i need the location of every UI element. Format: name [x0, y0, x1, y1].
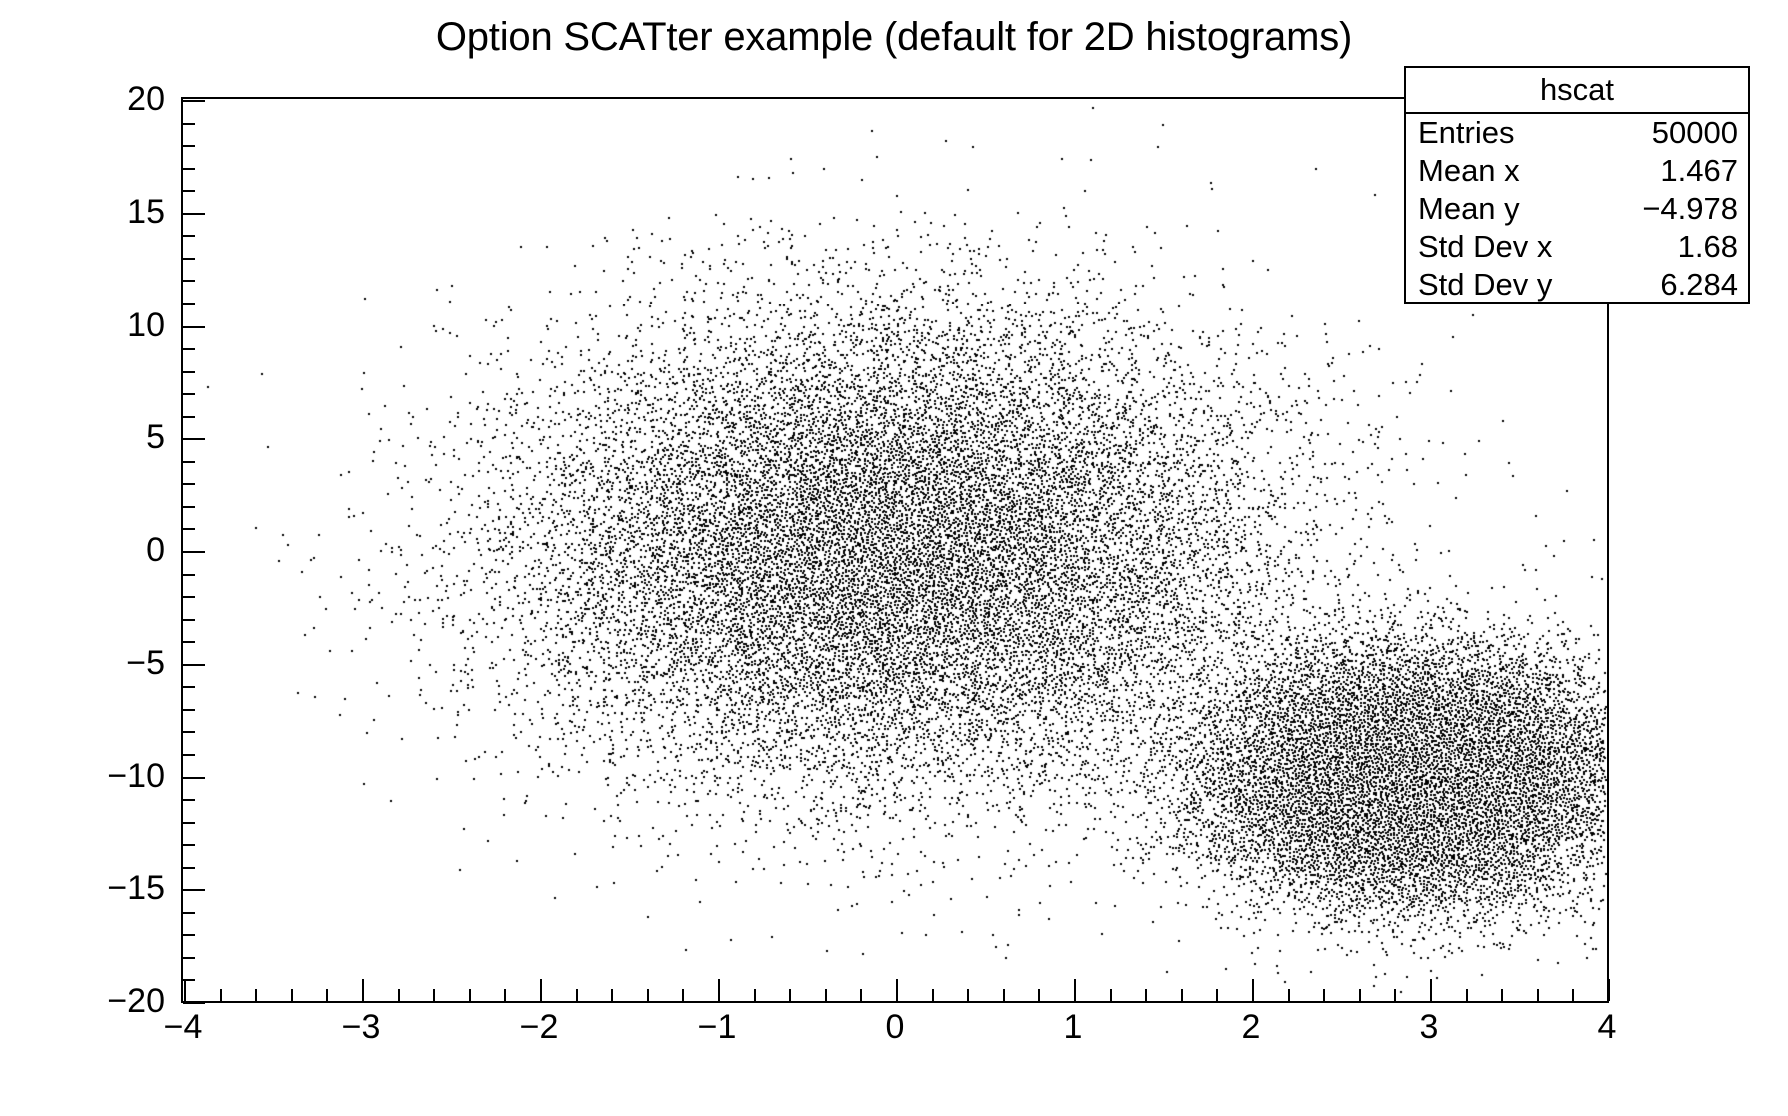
x-minor-tick — [576, 989, 578, 1001]
x-axis-tick-label: 4 — [1547, 1008, 1667, 1046]
y-minor-tick — [183, 348, 195, 350]
y-minor-tick — [183, 844, 195, 846]
y-minor-tick — [183, 235, 195, 237]
y-axis-tick-label: −15 — [25, 869, 165, 907]
x-major-tick — [1252, 979, 1254, 1001]
x-minor-tick — [825, 989, 827, 1001]
statistics-row: Mean x1.467 — [1406, 152, 1748, 190]
x-major-tick — [362, 979, 364, 1001]
y-minor-tick — [183, 709, 195, 711]
x-minor-tick — [1145, 989, 1147, 1001]
y-minor-tick — [183, 506, 195, 508]
x-major-tick — [184, 979, 186, 1001]
statistics-row: Mean y−4.978 — [1406, 190, 1748, 228]
y-minor-tick — [183, 619, 195, 621]
y-major-tick — [183, 551, 205, 553]
y-axis-tick-label: 5 — [25, 418, 165, 456]
statistics-label: Mean x — [1418, 152, 1520, 190]
y-axis-tick-label: 10 — [25, 306, 165, 344]
y-minor-tick — [183, 979, 195, 981]
y-axis-tick-label: −5 — [25, 644, 165, 682]
x-major-tick — [1608, 979, 1610, 1001]
statistics-label: Entries — [1418, 114, 1514, 152]
y-minor-tick — [183, 303, 195, 305]
x-minor-tick — [967, 989, 969, 1001]
x-axis-tick-label: −2 — [479, 1008, 599, 1046]
y-minor-tick — [183, 393, 195, 395]
x-minor-tick — [682, 989, 684, 1001]
y-minor-tick — [183, 867, 195, 869]
y-minor-tick — [183, 416, 195, 418]
y-minor-tick — [183, 574, 195, 576]
y-minor-tick — [183, 168, 195, 170]
y-minor-tick — [183, 912, 195, 914]
y-minor-tick — [183, 258, 195, 260]
x-axis-tick-label: −3 — [301, 1008, 421, 1046]
x-minor-tick — [1181, 989, 1183, 1001]
y-minor-tick — [183, 799, 195, 801]
x-minor-tick — [326, 989, 328, 1001]
root-canvas: Option SCATter example (default for 2D h… — [0, 0, 1788, 1116]
x-major-tick — [1074, 979, 1076, 1001]
y-minor-tick — [183, 957, 195, 959]
y-minor-tick — [183, 754, 195, 756]
y-minor-tick — [183, 145, 195, 147]
y-major-tick — [183, 1002, 205, 1004]
x-minor-tick — [255, 989, 257, 1001]
statistics-value: 6.284 — [1660, 266, 1738, 304]
y-minor-tick — [183, 371, 195, 373]
x-minor-tick — [504, 989, 506, 1001]
x-minor-tick — [1003, 989, 1005, 1001]
y-major-tick — [183, 438, 205, 440]
x-minor-tick — [1038, 989, 1040, 1001]
x-minor-tick — [433, 989, 435, 1001]
y-minor-tick — [183, 483, 195, 485]
statistics-label: Mean y — [1418, 190, 1520, 228]
statistics-rows: Entries50000Mean x1.467Mean y−4.978Std D… — [1406, 114, 1748, 304]
y-minor-tick — [183, 641, 195, 643]
x-minor-tick — [932, 989, 934, 1001]
x-minor-tick — [469, 989, 471, 1001]
x-axis-tick-label: 2 — [1191, 1008, 1311, 1046]
x-minor-tick — [1394, 989, 1396, 1001]
y-axis-tick-label: −20 — [25, 982, 165, 1020]
x-major-tick — [718, 979, 720, 1001]
statistics-box[interactable]: hscat Entries50000Mean x1.467Mean y−4.97… — [1404, 66, 1750, 304]
x-minor-tick — [1466, 989, 1468, 1001]
y-minor-tick — [183, 686, 195, 688]
statistics-value: 1.467 — [1660, 152, 1738, 190]
y-axis-tick-label: 15 — [25, 193, 165, 231]
x-major-tick — [896, 979, 898, 1001]
x-axis-tick-label: 0 — [835, 1008, 955, 1046]
x-minor-tick — [754, 989, 756, 1001]
y-minor-tick — [183, 731, 195, 733]
x-minor-tick — [1537, 989, 1539, 1001]
x-minor-tick — [220, 989, 222, 1001]
statistics-title: hscat — [1406, 68, 1748, 114]
chart-title: Option SCATter example (default for 2D h… — [0, 14, 1788, 60]
y-minor-tick — [183, 822, 195, 824]
x-minor-tick — [1501, 989, 1503, 1001]
statistics-value: 1.68 — [1678, 228, 1738, 266]
x-major-tick — [540, 979, 542, 1001]
y-major-tick — [183, 889, 205, 891]
statistics-label: Std Dev x — [1418, 228, 1552, 266]
statistics-value: −4.978 — [1642, 190, 1738, 228]
statistics-label: Std Dev y — [1418, 266, 1552, 304]
x-minor-tick — [1288, 989, 1290, 1001]
y-major-tick — [183, 326, 205, 328]
y-major-tick — [183, 100, 205, 102]
x-minor-tick — [611, 989, 613, 1001]
y-minor-tick — [183, 123, 195, 125]
y-axis-tick-label: −10 — [25, 757, 165, 795]
y-major-tick — [183, 213, 205, 215]
y-minor-tick — [183, 934, 195, 936]
x-minor-tick — [1359, 989, 1361, 1001]
x-axis-tick-label: 3 — [1369, 1008, 1489, 1046]
y-minor-tick — [183, 528, 195, 530]
x-minor-tick — [1110, 989, 1112, 1001]
y-axis-tick-label: 0 — [25, 531, 165, 569]
plot-frame — [181, 97, 1609, 1003]
x-minor-tick — [1323, 989, 1325, 1001]
x-axis-tick-label: 1 — [1013, 1008, 1133, 1046]
x-axis-tick-label: −1 — [657, 1008, 777, 1046]
x-minor-tick — [1572, 989, 1574, 1001]
y-major-tick — [183, 664, 205, 666]
statistics-row: Entries50000 — [1406, 114, 1748, 152]
x-minor-tick — [1216, 989, 1218, 1001]
y-axis-tick-label: 20 — [25, 80, 165, 118]
x-minor-tick — [398, 989, 400, 1001]
x-minor-tick — [647, 989, 649, 1001]
y-major-tick — [183, 777, 205, 779]
x-minor-tick — [291, 989, 293, 1001]
y-minor-tick — [183, 596, 195, 598]
x-minor-tick — [860, 989, 862, 1001]
x-minor-tick — [789, 989, 791, 1001]
y-minor-tick — [183, 280, 195, 282]
y-minor-tick — [183, 190, 195, 192]
y-minor-tick — [183, 461, 195, 463]
statistics-value: 50000 — [1652, 114, 1738, 152]
statistics-row: Std Dev x1.68 — [1406, 228, 1748, 266]
statistics-row: Std Dev y6.284 — [1406, 266, 1748, 304]
x-major-tick — [1430, 979, 1432, 1001]
scatter-plot-canvas — [183, 99, 1607, 1001]
